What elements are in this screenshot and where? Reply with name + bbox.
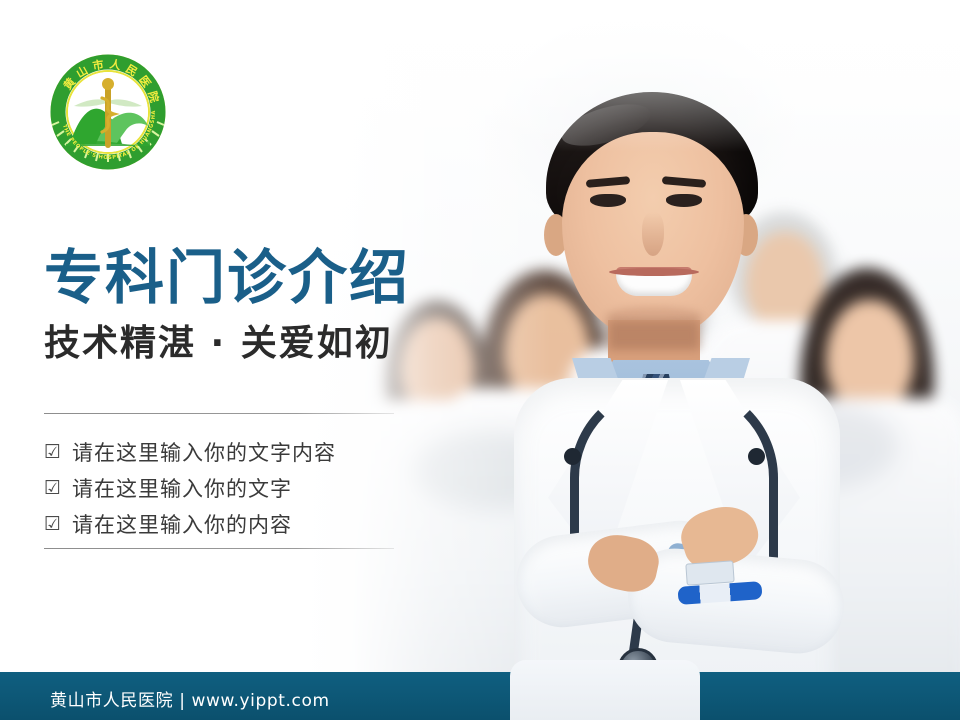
stethoscope-eartip-right bbox=[748, 448, 765, 465]
doctor-neck-shadow bbox=[608, 320, 700, 350]
list-item-label: 请在这里输入你的文字内容 bbox=[72, 437, 336, 467]
checkbox-icon: ☑ bbox=[44, 441, 72, 463]
footer-label: 黄山市人民医院 | www.yippt.com bbox=[50, 686, 330, 711]
doctor-coat-over-footer bbox=[510, 660, 700, 720]
doctor-nose bbox=[642, 212, 664, 256]
checkbox-icon: ☑ bbox=[44, 513, 72, 535]
coat-pocket-badge bbox=[685, 560, 734, 585]
list-item-label: 请在这里输入你的文字 bbox=[72, 473, 292, 503]
foreground-doctor bbox=[510, 92, 840, 690]
list-item[interactable]: ☑ 请在这里输入你的文字内容 bbox=[44, 434, 444, 470]
doctor-eye-left bbox=[590, 194, 626, 207]
doctor-photo bbox=[300, 0, 960, 690]
hospital-logo: 黄山市人民医院 THE PEOPLE'S HOSPITAL OF HUANGSH… bbox=[44, 48, 184, 176]
checkbox-icon: ☑ bbox=[44, 477, 72, 499]
bullet-list: ☑ 请在这里输入你的文字内容 ☑ 请在这里输入你的文字 ☑ 请在这里输入你的内容 bbox=[44, 434, 444, 542]
doctor-smile bbox=[616, 270, 692, 296]
list-item[interactable]: ☑ 请在这里输入你的内容 bbox=[44, 506, 444, 542]
presentation-slide: 黄山市人民医院 THE PEOPLE'S HOSPITAL OF HUANGSH… bbox=[0, 0, 960, 720]
doctor-eye-right bbox=[666, 194, 702, 207]
slide-subtitle: 技术精湛 · 关爱如初 bbox=[44, 326, 393, 362]
list-item[interactable]: ☑ 请在这里输入你的文字 bbox=[44, 470, 444, 506]
stethoscope-eartip-left bbox=[564, 448, 581, 465]
divider-bottom bbox=[44, 548, 394, 549]
slide-title: 专科门诊介绍 bbox=[44, 248, 410, 307]
divider-top bbox=[44, 413, 394, 414]
list-item-label: 请在这里输入你的内容 bbox=[72, 509, 292, 539]
